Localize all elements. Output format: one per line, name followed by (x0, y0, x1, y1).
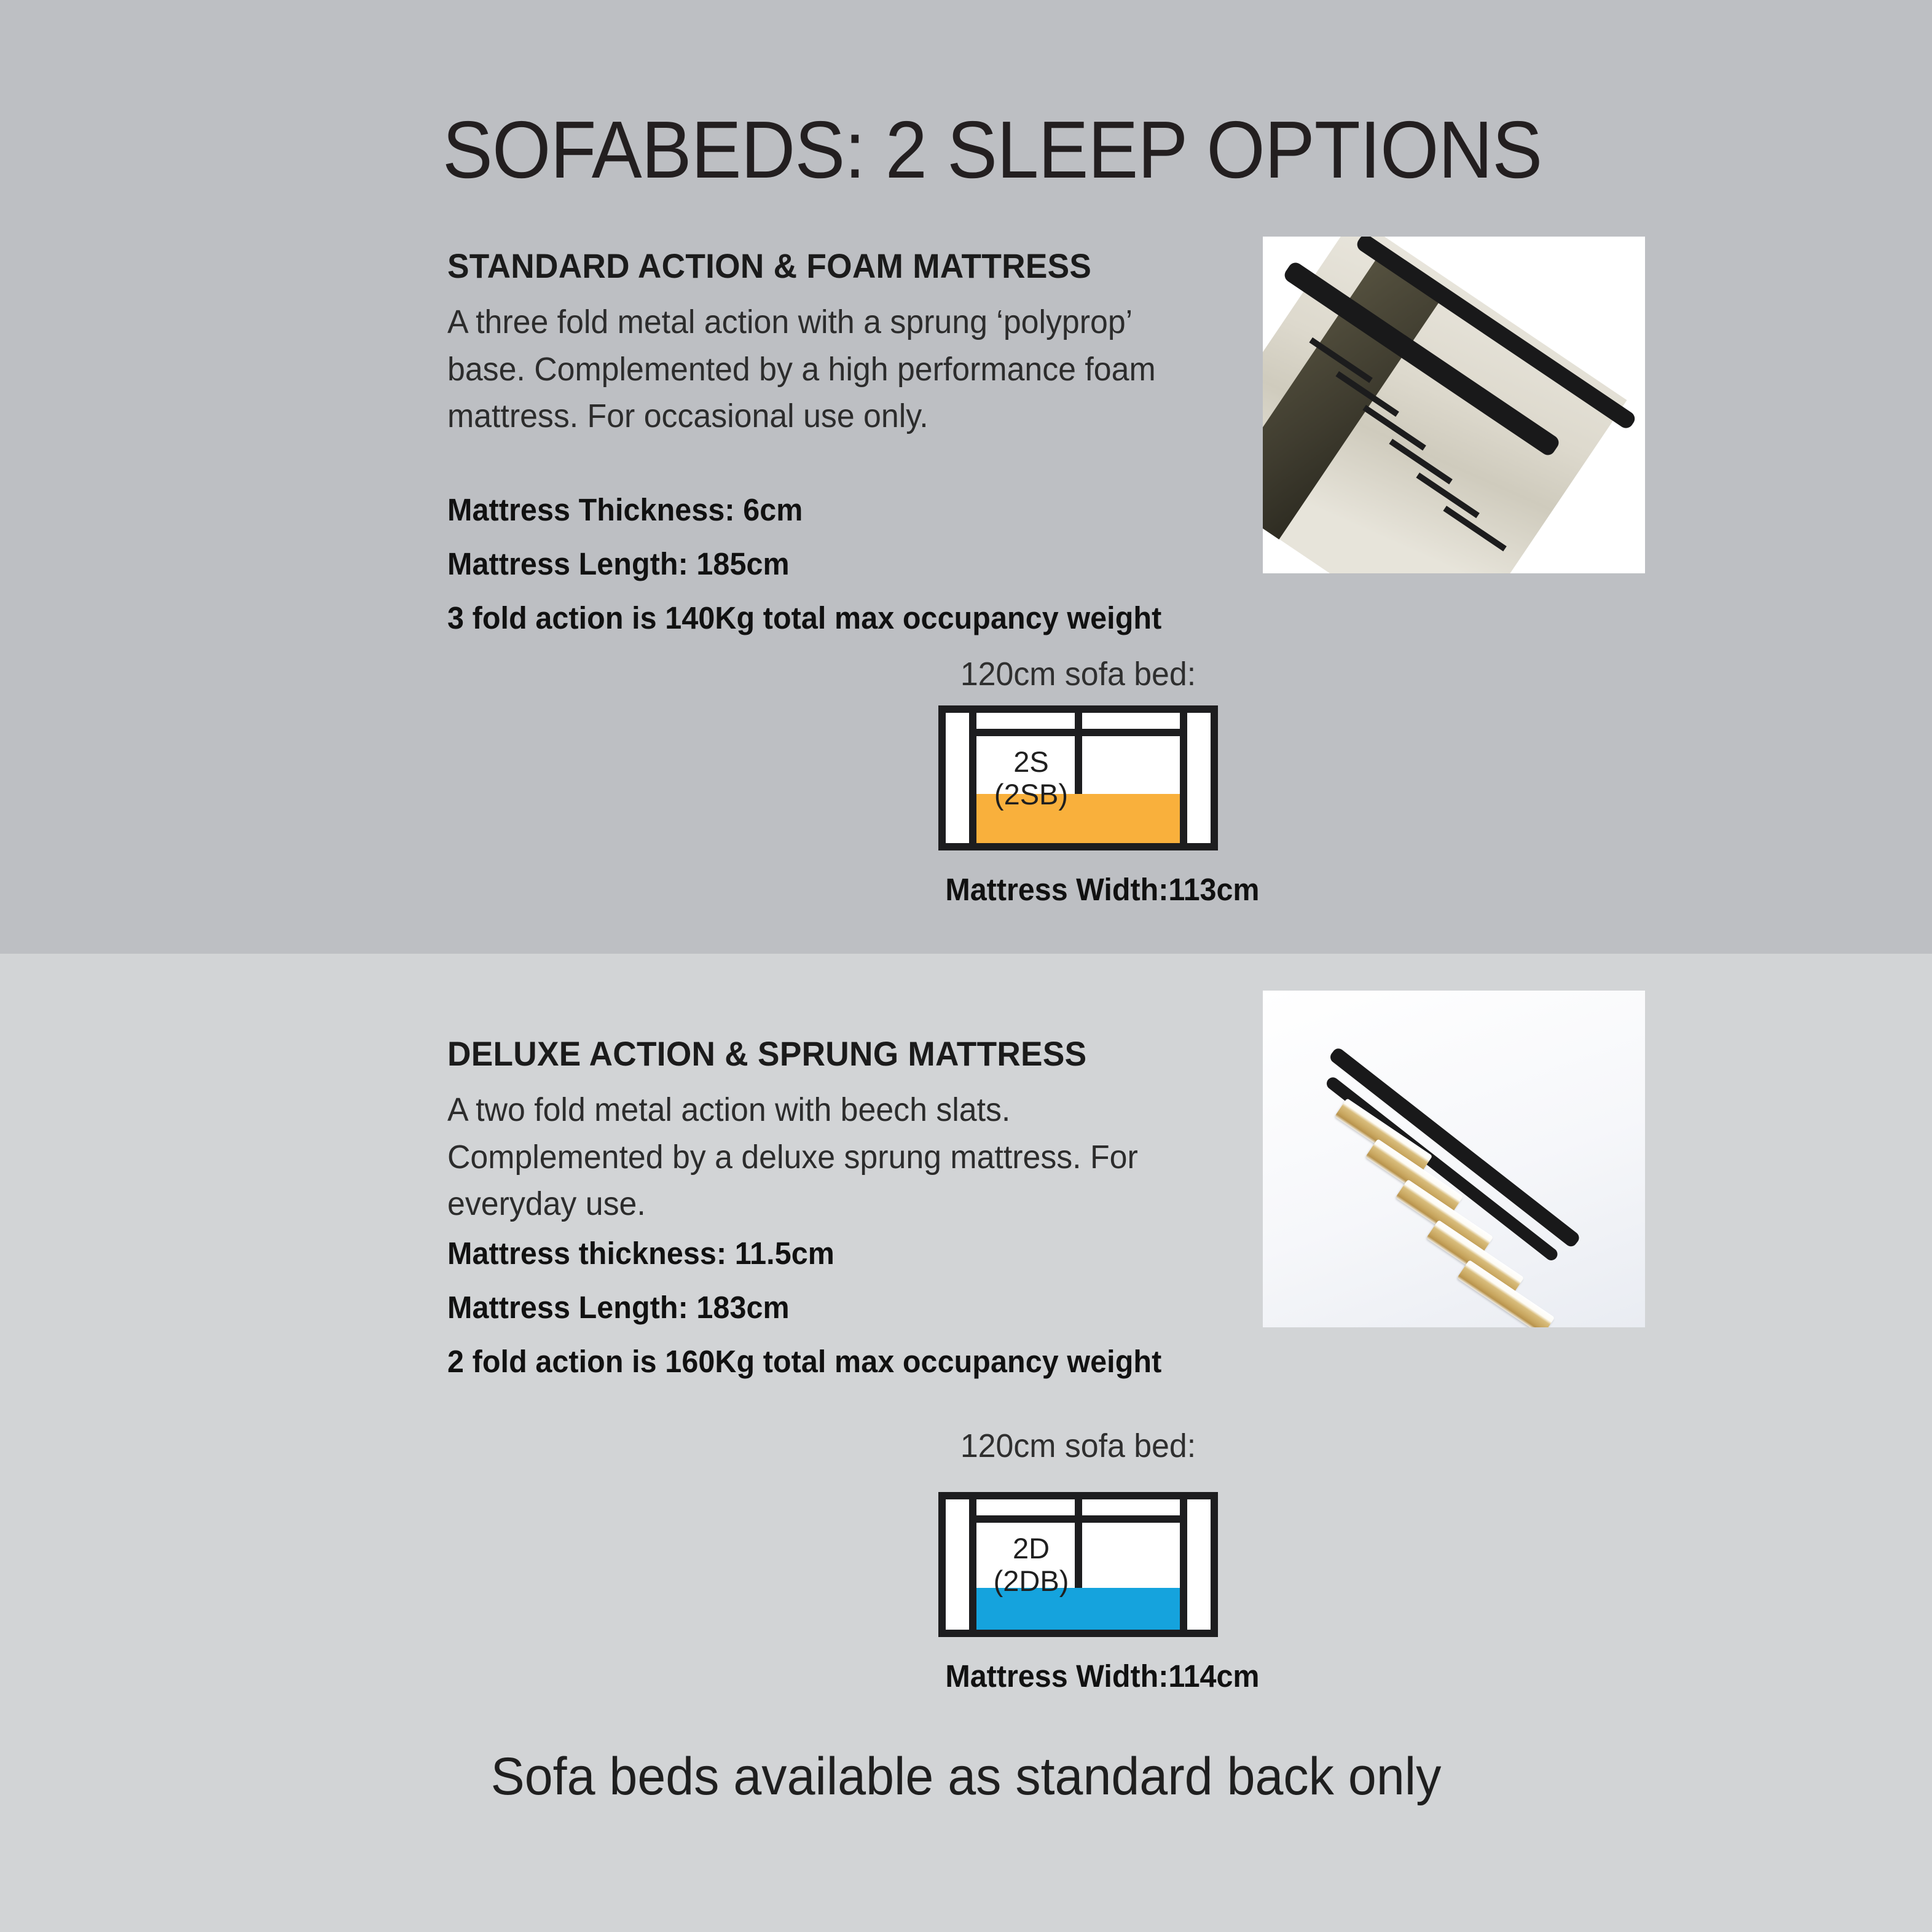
sofa-arm-left (969, 713, 976, 843)
sofa-diagram-standard: 120cm sofa bed: 2S (2SB) Mattress Width:… (938, 655, 1218, 913)
photo-backdrop (1263, 991, 1645, 1327)
sofa-plan-standard: 2S (2SB) (938, 705, 1218, 850)
spec-deluxe-length: Mattress Length: 183cm (447, 1289, 790, 1325)
spec-deluxe-thickness: Mattress thickness: 11.5cm (447, 1235, 834, 1271)
mattress-width-label-standard: Mattress Width:113cm (945, 871, 1211, 908)
section-description-deluxe: A two fold metal action with beech slats… (447, 1086, 1214, 1228)
sofa-code-alt-deluxe: (2DB) (976, 1565, 1086, 1598)
sofa-diagram-deluxe: 120cm sofa bed: 2D (2DB) Mattress Width:… (938, 1427, 1218, 1685)
section-heading-deluxe: DELUXE ACTION & SPRUNG MATTRESS (447, 1034, 1086, 1074)
spec-standard-thickness: Mattress Thickness: 6cm (447, 492, 803, 528)
page-title: SOFABEDS: 2 SLEEP OPTIONS (442, 109, 1585, 190)
sprung-action-photo (1263, 991, 1645, 1327)
section-description-standard: A three fold metal action with a sprung … (447, 299, 1214, 440)
footer-note: Sofa beds available as standard back onl… (39, 1746, 1893, 1807)
sofa-arm-left (969, 1499, 976, 1630)
mattress-width-label-deluxe: Mattress Width:114cm (945, 1658, 1211, 1694)
sprung-action-photo-stage (1263, 991, 1645, 1327)
sofa-diagram-size-label-standard: 120cm sofa bed: (944, 655, 1212, 693)
sofa-code-primary-deluxe: 2D (1013, 1532, 1050, 1565)
sofa-plan-deluxe: 2D (2DB) (938, 1492, 1218, 1637)
spec-standard-length: Mattress Length: 185cm (447, 546, 790, 582)
sofa-code-standard: 2S (2SB) (976, 746, 1086, 811)
sofa-code-deluxe: 2D (2DB) (976, 1533, 1086, 1597)
sofa-arm-right (1180, 713, 1187, 843)
sofa-code-primary-standard: 2S (1013, 745, 1049, 778)
section-heading-standard: STANDARD ACTION & FOAM MATTRESS (447, 246, 1091, 286)
spec-standard-weight: 3 fold action is 140Kg total max occupan… (447, 600, 1161, 636)
foam-action-photo (1263, 237, 1645, 573)
sofa-arm-right (1180, 1499, 1187, 1630)
spec-deluxe-weight: 2 fold action is 160Kg total max occupan… (447, 1343, 1161, 1380)
foam-action-photo-stage (1263, 237, 1645, 573)
sofa-diagram-size-label-deluxe: 120cm sofa bed: (944, 1427, 1212, 1465)
sofa-code-alt-standard: (2SB) (976, 779, 1086, 811)
